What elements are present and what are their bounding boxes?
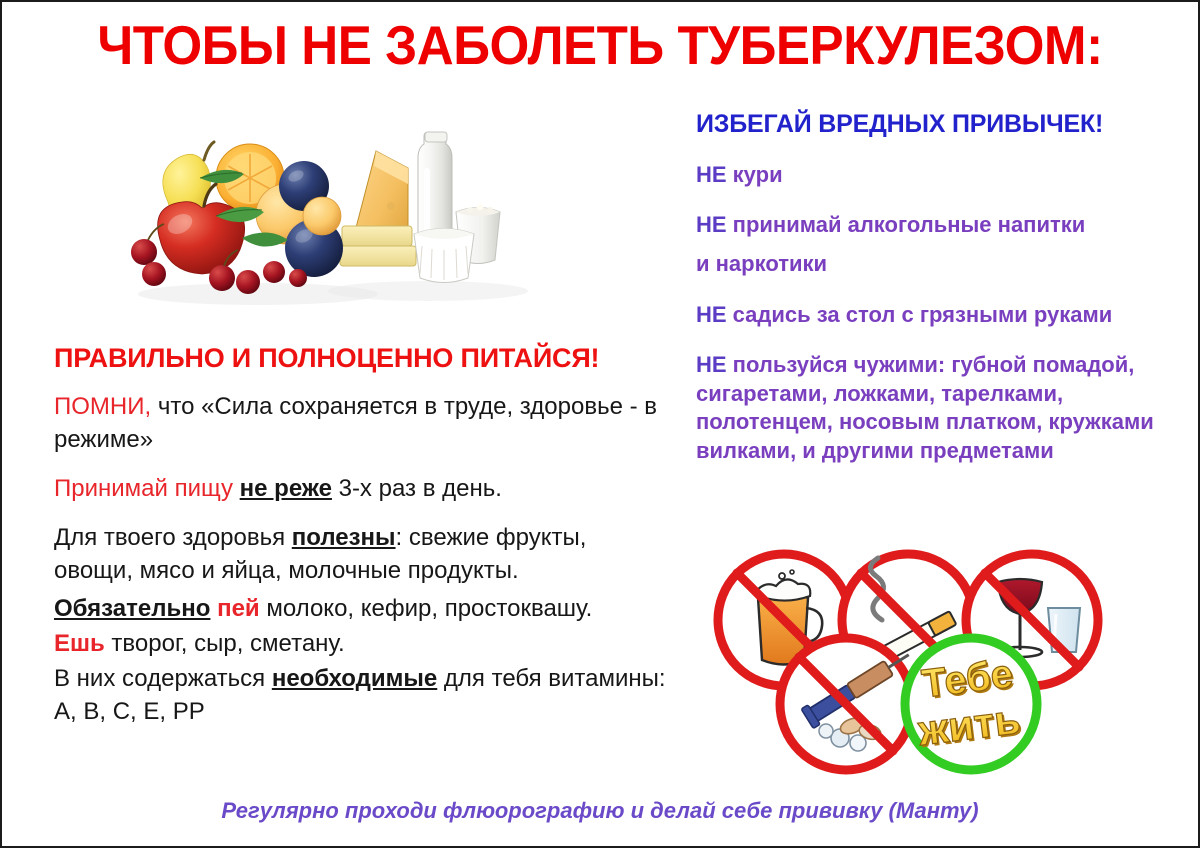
habit-prefix-4: НЕ [696, 352, 727, 377]
pomni-accent: ПОМНИ, [54, 393, 151, 420]
paragraph-polezny: Для твоего здоровья полезны: свежие фрук… [54, 521, 666, 587]
prinimay-accent: Принимай пищу [54, 475, 240, 502]
paragraph-obyazatelno: Обязательно пей молоко, кефир, простоква… [54, 592, 666, 625]
habits-heading: ИЗБЕГАЙ ВРЕДНЫХ ПРИВЫЧЕК! [696, 110, 1172, 139]
left-column: ПРАВИЛЬНО И ПОЛНОЦЕННО ПИТАЙСЯ! ПОМНИ, ч… [46, 106, 666, 744]
habit-item-3: НЕ садись за стол с грязными руками [696, 301, 1172, 330]
paragraph-vitaminy: В них содержаться необходимые для тебя в… [54, 662, 666, 728]
pey-accent: пей [217, 595, 260, 622]
footer-note: Регулярно проходи флюорографию и делай с… [2, 798, 1198, 824]
page-title: ЧТОБЫ НЕ ЗАБОЛЕТЬ ТУБЕРКУЛЕЗОМ: [44, 18, 1156, 73]
vitaminy-emphasis: необходимые [272, 665, 437, 692]
paragraph-prinimay: Принимай пищу не реже 3-х раз в день. [54, 472, 666, 505]
habit-text-4: пользуйся чужими: губной пома­дой, сигар… [696, 352, 1154, 463]
obyazatelno-rest: молоко, кефир, простоквашу. [260, 595, 593, 622]
no-drugs-icon [780, 638, 915, 770]
right-column: ИЗБЕГАЙ ВРЕДНЫХ ПРИВЫЧЕК! НЕ кури НЕ при… [692, 110, 1172, 488]
esh-rest: творог, сыр, сметану. [105, 630, 345, 657]
poster-root: ЧТОБЫ НЕ ЗАБОЛЕТЬ ТУБЕРКУЛЕЗОМ: [0, 0, 1200, 848]
habit-text-2: и наркотики [696, 251, 827, 276]
prinimay-emphasis: не реже [240, 475, 332, 502]
paragraph-pomni: ПОМНИ, что «Сила сохраняется в труде, зд… [54, 390, 666, 456]
prohibition-icons: Тебе Тебе жить жить [706, 542, 1136, 782]
paragraph-esh: Ешь творог, сыр, сметану. [54, 627, 666, 660]
habit-prefix-1: НЕ [696, 212, 727, 237]
habit-item-4: НЕ пользуйся чужими: губной пома­дой, си… [696, 351, 1172, 465]
habit-item-2: и наркотики [696, 250, 1172, 279]
nutrition-heading: ПРАВИЛЬНО И ПОЛНОЦЕННО ПИТАЙСЯ! [54, 343, 666, 374]
habit-prefix-0: НЕ [696, 162, 727, 187]
obyazatelno-emphasis: Обязательно [54, 595, 210, 622]
habit-text-1: принимай алкогольные напитки [727, 212, 1086, 237]
prinimay-rest: 3-х раз в день. [332, 475, 502, 502]
life-slogan-icon: Тебе Тебе жить жить [905, 638, 1037, 770]
habit-text-3: садись за стол с грязными руками [727, 302, 1113, 327]
habit-item-0: НЕ кури [696, 161, 1172, 190]
vitaminy-lead: В них содержаться [54, 665, 272, 692]
polezny-emphasis: полезны [292, 524, 396, 551]
habit-prefix-3: НЕ [696, 302, 727, 327]
food-photo [108, 106, 538, 321]
esh-accent: Ешь [54, 630, 105, 657]
polezny-lead: Для твоего здоровья [54, 524, 292, 551]
habit-item-1: НЕ принимай алкогольные напитки [696, 211, 1172, 240]
habit-text-0: кури [727, 162, 783, 187]
